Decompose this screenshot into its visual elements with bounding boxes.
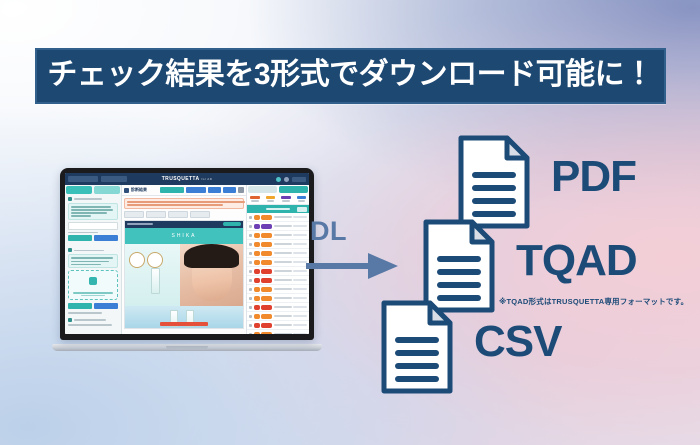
app-header: TRUSQUETTAfor AD [65, 173, 309, 185]
app-body: 診断結果 [65, 185, 309, 334]
model-hair [184, 244, 239, 269]
download-indicator: DL [306, 218, 402, 280]
table-row[interactable] [247, 258, 309, 267]
product-bottle [151, 268, 160, 294]
filter-chip[interactable] [190, 211, 210, 218]
format-label-pdf: PDF [551, 155, 636, 199]
panel-description [68, 203, 118, 220]
save-button[interactable] [223, 187, 236, 193]
summary-stats [247, 194, 309, 205]
table-row[interactable] [247, 303, 309, 312]
file-dropzone[interactable] [68, 270, 118, 300]
creative-preview: SHIKA [124, 220, 244, 329]
table-row[interactable] [247, 312, 309, 321]
preview-body [125, 244, 243, 306]
list-icon [124, 188, 129, 193]
format-label-csv: CSV [474, 320, 561, 364]
table-row[interactable] [247, 276, 309, 285]
document-icon [378, 298, 456, 396]
results-list[interactable] [247, 213, 309, 334]
stat-item [263, 194, 279, 204]
table-row[interactable] [247, 285, 309, 294]
sidebar-input[interactable] [68, 222, 118, 230]
award-badge-icon [129, 252, 145, 268]
right-arrow-icon [306, 252, 402, 280]
app-right-panel [246, 185, 309, 334]
content-toolbar: 診断結果 [122, 185, 246, 196]
table-row[interactable] [247, 240, 309, 249]
menu-icon[interactable] [238, 187, 244, 193]
panel-heading [68, 248, 118, 252]
preview-model-photo [180, 244, 243, 306]
account-avatar[interactable] [284, 177, 289, 182]
laptop-lid: TRUSQUETTAfor AD [60, 168, 314, 340]
panel-heading [68, 197, 118, 201]
key-icon [68, 318, 72, 322]
right-panel-tabs [247, 185, 309, 194]
content-title: 診断結果 [131, 187, 147, 193]
preview-footer [125, 306, 243, 328]
sidebar-panel-expression [65, 195, 121, 246]
show-all-button[interactable] [186, 187, 206, 193]
tab-target-area[interactable] [279, 186, 308, 193]
laptop-notch [166, 346, 208, 350]
edit-button[interactable] [208, 187, 221, 193]
filter-chips [122, 211, 246, 220]
download-results-button[interactable] [160, 187, 184, 193]
stat-item [294, 194, 310, 204]
table-row[interactable] [247, 231, 309, 240]
run-check-button[interactable] [94, 235, 118, 241]
sidebar-panel-keyword [65, 316, 121, 328]
document-check-icon [68, 248, 72, 252]
page-title: チェック結果を3形式でダウンロード可能に！ [47, 60, 653, 90]
app-brand: TRUSQUETTAfor AD [162, 176, 213, 182]
results-list-header [247, 205, 309, 213]
preview-hero: SHIKA [125, 228, 243, 244]
sort-button[interactable] [297, 207, 307, 212]
format-label-tqad: TQAD [516, 239, 637, 283]
table-row[interactable] [247, 249, 309, 258]
filter-chip[interactable] [124, 211, 144, 218]
footnote: ※TQAD形式はTRUSQUETTA専用フォーマットです。 [499, 296, 688, 307]
clipboard-icon [68, 197, 72, 201]
preview-topbar [125, 221, 243, 228]
tab-issue-list[interactable] [248, 186, 277, 193]
table-row[interactable] [247, 213, 309, 222]
app-content: 診断結果 [122, 185, 246, 334]
filter-chip[interactable] [168, 211, 188, 218]
table-row[interactable] [247, 330, 309, 334]
app-sidebar [65, 185, 122, 334]
preview-cta[interactable] [223, 222, 241, 226]
run-check-button[interactable] [94, 303, 118, 309]
filter-chip[interactable] [146, 211, 166, 218]
preview-brand: SHIKA [171, 233, 196, 239]
sidebar-tabs [65, 185, 121, 195]
sidebar-actions [68, 303, 118, 309]
stat-item [278, 194, 294, 204]
award-badge-icon [147, 252, 163, 268]
table-row[interactable] [247, 294, 309, 303]
laptop-screen: TRUSQUETTAfor AD [65, 173, 309, 334]
account-label [292, 177, 306, 182]
panel-heading [68, 318, 118, 322]
clear-button[interactable] [68, 303, 92, 309]
help-icon[interactable] [276, 177, 281, 182]
sidebar-tab-settings[interactable] [94, 186, 120, 194]
sidebar-tab-check[interactable] [66, 186, 92, 194]
preview-product-panel [125, 244, 180, 306]
sidebar-panel-fact [65, 246, 121, 316]
clear-button[interactable] [68, 235, 92, 241]
table-row[interactable] [247, 222, 309, 231]
laptop-mockup: TRUSQUETTAfor AD [52, 168, 322, 363]
table-row[interactable] [247, 267, 309, 276]
panel-description [68, 254, 118, 268]
promo-tag [160, 322, 207, 326]
headline-banner: チェック結果を3形式でダウンロード可能に！ [35, 48, 666, 104]
header-tab-2[interactable] [101, 176, 127, 182]
header-tab-1[interactable] [68, 176, 98, 182]
alert-banner [124, 198, 244, 209]
table-row[interactable] [247, 321, 309, 330]
app-brand-name: TRUSQUETTA [162, 176, 200, 182]
sidebar-actions [68, 235, 118, 241]
upload-icon [89, 277, 97, 285]
stat-item [247, 194, 263, 204]
promo-graphic: チェック結果を3形式でダウンロード可能に！ TRUSQUETTAfor AD [0, 0, 700, 445]
header-actions [276, 177, 306, 182]
app-brand-suffix: for AD [202, 177, 213, 181]
download-label: DL [310, 218, 347, 245]
